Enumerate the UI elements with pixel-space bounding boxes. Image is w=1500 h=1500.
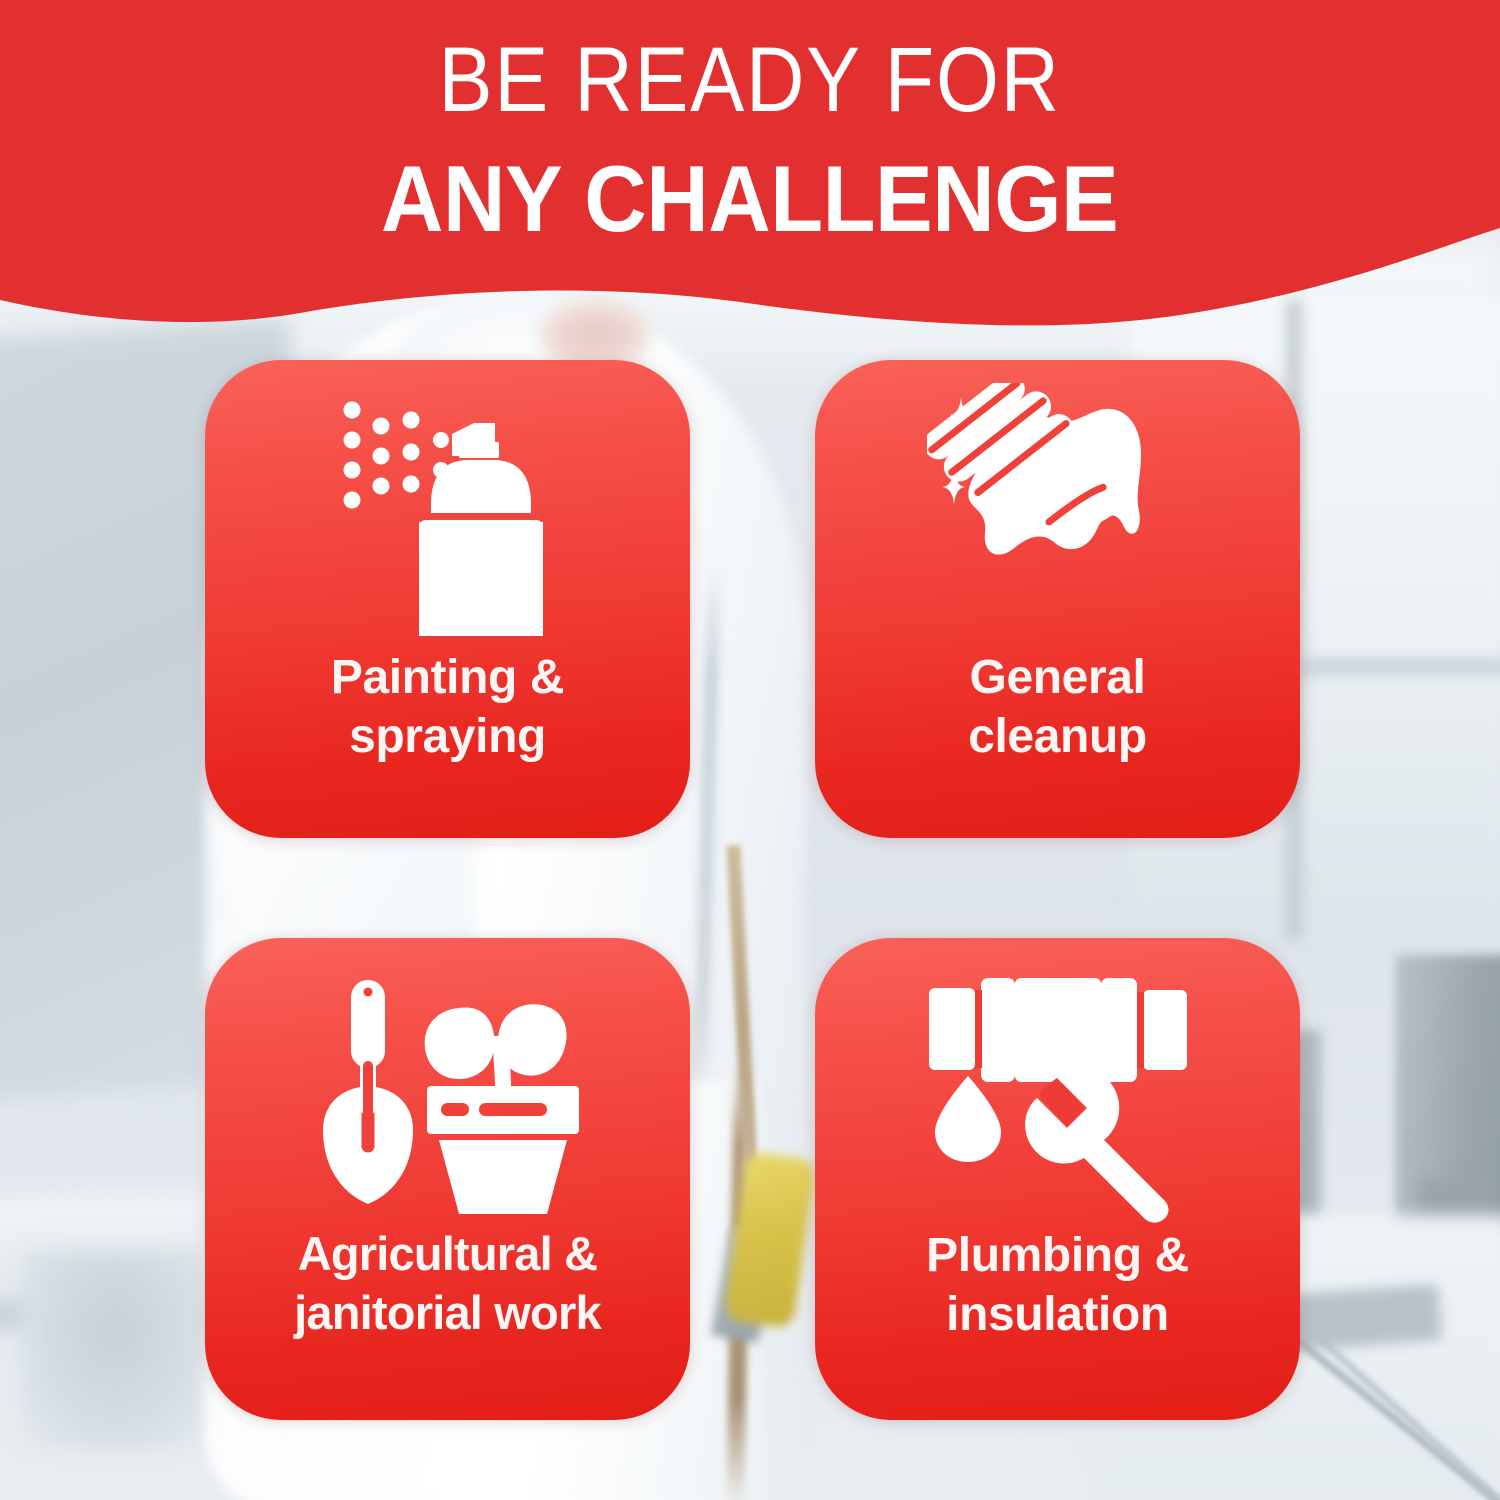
feature-card-label: Painting & spraying bbox=[313, 648, 582, 766]
feature-card-painting-spraying[interactable]: Painting & spraying bbox=[205, 360, 690, 838]
feature-card-general-cleanup[interactable]: General cleanup bbox=[815, 360, 1300, 838]
leaking-pipe-wrench-icon bbox=[927, 974, 1189, 1226]
background-chair bbox=[20, 1250, 210, 1450]
feature-card-agricultural-janitorial[interactable]: Agricultural & janitorial work bbox=[205, 938, 690, 1420]
feature-card-label: General cleanup bbox=[950, 648, 1165, 766]
hand-wiping-cloth-icon bbox=[927, 382, 1189, 634]
feature-card-plumbing-insulation[interactable]: Plumbing & insulation bbox=[815, 938, 1300, 1420]
trowel-and-potted-plant-icon bbox=[315, 972, 581, 1224]
feature-card-label: Agricultural & janitorial work bbox=[276, 1224, 619, 1342]
feature-card-label: Plumbing & insulation bbox=[908, 1226, 1207, 1344]
feature-card-grid: Painting & spraying bbox=[205, 360, 1300, 1420]
spray-can-icon bbox=[323, 390, 573, 642]
